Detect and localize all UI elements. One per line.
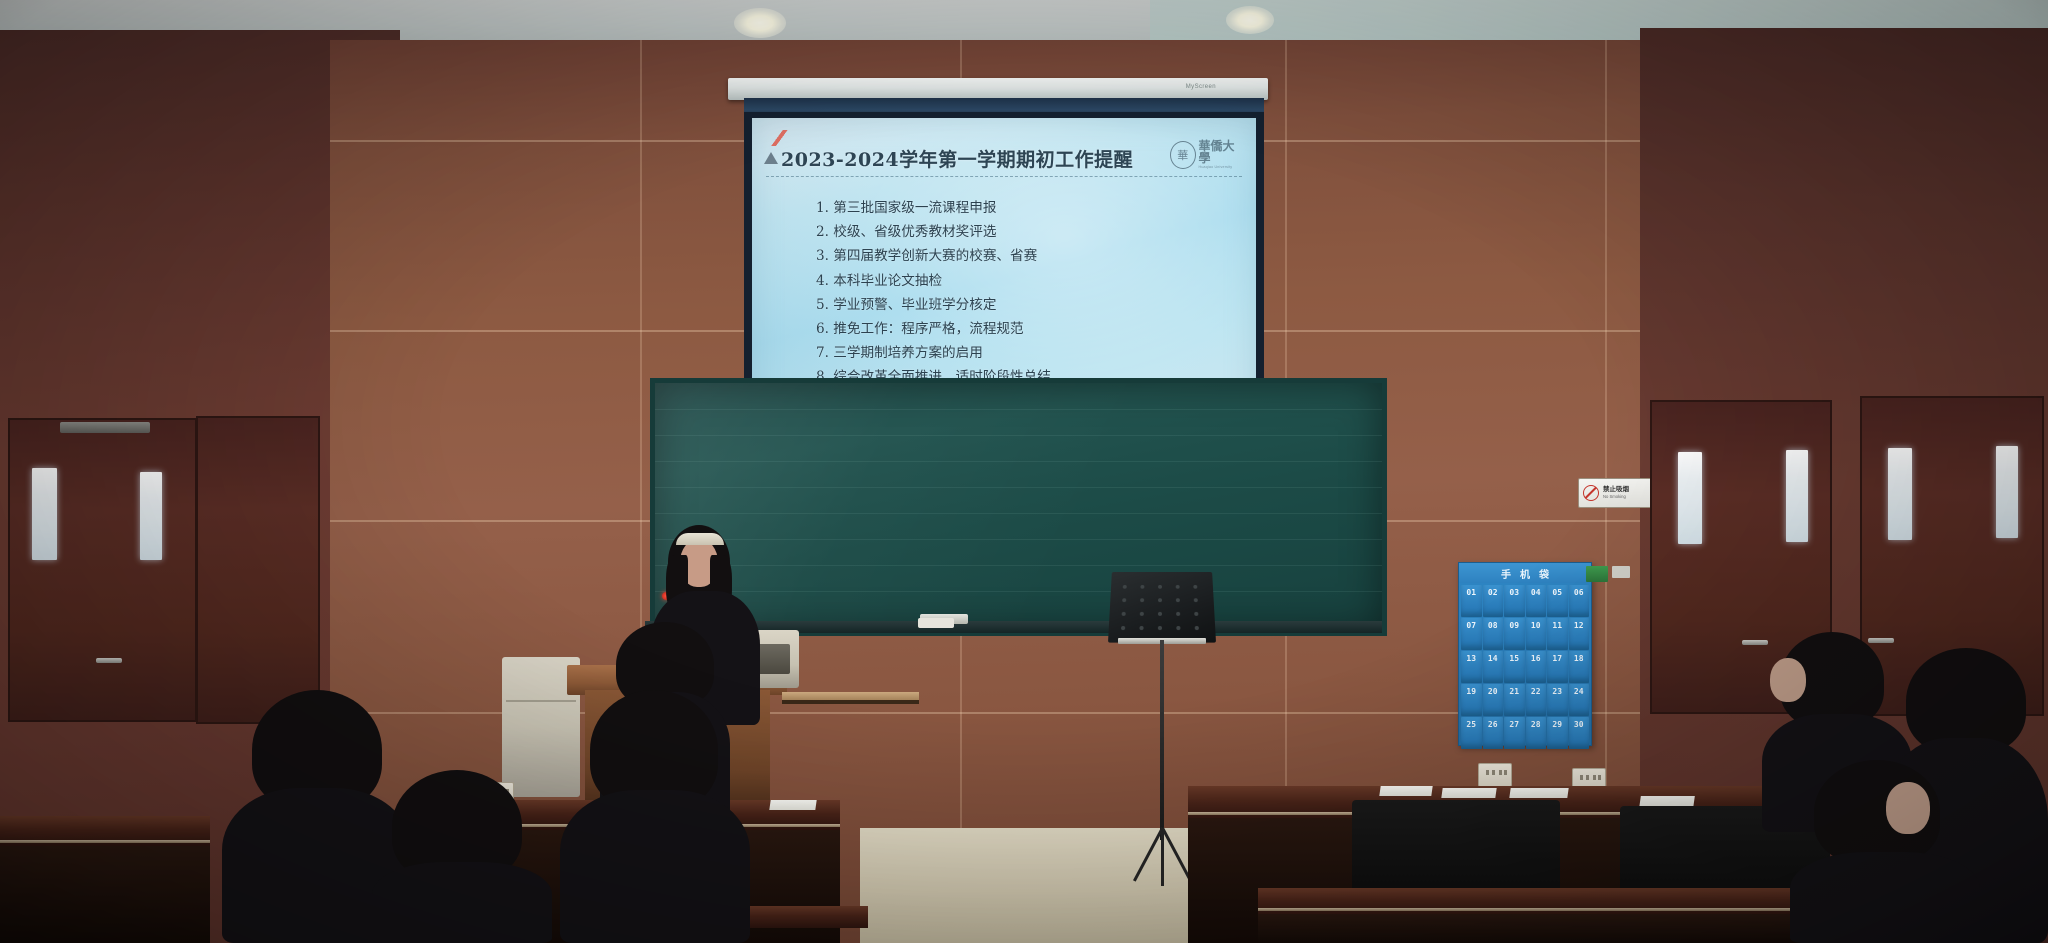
phone-pocket[interactable]: 26 — [1483, 717, 1504, 749]
door-left[interactable] — [8, 418, 197, 722]
ceiling-light-icon — [734, 8, 786, 38]
pocket-header-char: 手 — [1501, 566, 1511, 581]
desk-row — [1258, 888, 1818, 916]
no-smoking-icon — [1583, 485, 1599, 501]
triangle-bullet-icon — [764, 152, 778, 164]
phone-pocket[interactable]: 22 — [1526, 684, 1547, 716]
door-window — [1996, 446, 2018, 538]
door-window — [32, 468, 57, 560]
desk-row — [748, 906, 868, 928]
phone-pocket-chart: 手 机 袋 01 02 03 04 05 06 07 08 09 10 11 1… — [1458, 562, 1592, 746]
lecture-hall-photo: MyScreen 2023-2024学年第一学期期初工作提醒 華 華僑大學 Hu… — [0, 0, 2048, 943]
audience-member — [372, 770, 552, 943]
pocket-header-char: 机 — [1520, 566, 1530, 581]
door-window — [1786, 450, 1808, 542]
list-item: 4. 本科毕业论文抽检 — [816, 269, 1236, 293]
list-item: 7. 三学期制培养方案的启用 — [816, 341, 1236, 365]
paper-sheet[interactable] — [1509, 788, 1568, 798]
logo-name-en: Huaqiao University — [1199, 166, 1242, 170]
projector-screen-housing: MyScreen — [728, 78, 1268, 100]
phone-pocket[interactable]: 27 — [1504, 717, 1525, 749]
power-outlet[interactable] — [1478, 763, 1512, 787]
pocket-header-char: 袋 — [1539, 566, 1549, 581]
slide-title: 2023-2024学年第一学期期初工作提醒 — [781, 145, 1133, 172]
list-item: 3. 第四届教学创新大赛的校赛、省赛 — [816, 244, 1236, 268]
blackboard — [650, 378, 1387, 636]
phone-pocket[interactable]: 19 — [1461, 684, 1482, 716]
slide-divider — [766, 176, 1242, 177]
desk-front — [0, 846, 210, 943]
wall-clip — [1612, 566, 1630, 578]
phone-pocket-grid: 01 02 03 04 05 06 07 08 09 10 11 12 13 1… — [1459, 583, 1591, 751]
phone-pocket[interactable]: 12 — [1569, 618, 1590, 650]
phone-pocket[interactable]: 01 — [1461, 585, 1482, 617]
blackboard-sheen — [655, 383, 1382, 631]
list-item: 6. 推免工作：程序严格，流程规范 — [816, 317, 1236, 341]
phone-pocket[interactable]: 09 — [1504, 618, 1525, 650]
list-item: 5. 学业预警、毕业班学分核定 — [816, 293, 1236, 317]
list-item: 1. 第三批国家级一流课程申报 — [816, 196, 1236, 220]
phone-pocket[interactable]: 20 — [1483, 684, 1504, 716]
list-item: 2. 校级、省级优秀教材奖评选 — [816, 220, 1236, 244]
phone-pocket[interactable]: 24 — [1569, 684, 1590, 716]
music-stand-plate — [1108, 572, 1216, 643]
paper-sheet[interactable] — [769, 800, 816, 810]
phone-pocket[interactable]: 21 — [1504, 684, 1525, 716]
phone-pocket[interactable]: 04 — [1526, 585, 1547, 617]
phone-pocket[interactable]: 25 — [1461, 717, 1482, 749]
wall-green-tag — [1586, 566, 1608, 582]
door-window — [1678, 452, 1702, 544]
podium-shelf-shadow — [782, 700, 919, 704]
university-logo: 華 華僑大學 Huaqiao University — [1170, 140, 1242, 170]
ceiling-light-icon — [1226, 6, 1274, 34]
tripod-leg — [1161, 828, 1164, 886]
phone-pocket[interactable]: 18 — [1569, 651, 1590, 683]
chalk-box[interactable] — [918, 618, 954, 628]
door-closer — [60, 422, 150, 433]
logo-name-cn: 華僑大學 — [1199, 140, 1242, 164]
no-smoking-text-cn: 禁止吸烟 — [1603, 487, 1629, 494]
paper-sheet[interactable] — [1441, 788, 1496, 798]
screen-brand-label: MyScreen — [1186, 84, 1216, 90]
no-smoking-text-en: No Smoking — [1603, 495, 1629, 499]
door-handle[interactable] — [96, 658, 122, 663]
phone-pocket[interactable]: 15 — [1504, 651, 1525, 683]
door-window — [1888, 448, 1912, 540]
phone-pocket[interactable]: 02 — [1483, 585, 1504, 617]
phone-pocket[interactable]: 17 — [1547, 651, 1568, 683]
phone-pocket[interactable]: 11 — [1547, 618, 1568, 650]
phone-pocket[interactable]: 13 — [1461, 651, 1482, 683]
phone-pocket[interactable]: 10 — [1526, 618, 1547, 650]
desk-edge — [0, 840, 210, 843]
phone-pocket[interactable]: 29 — [1547, 717, 1568, 749]
audience-member — [560, 690, 750, 943]
phone-pocket[interactable]: 05 — [1547, 585, 1568, 617]
door-left-outer[interactable] — [196, 416, 320, 724]
phone-pocket[interactable]: 03 — [1504, 585, 1525, 617]
desk-front — [1258, 914, 1818, 943]
phone-pocket[interactable]: 28 — [1526, 717, 1547, 749]
phone-pocket[interactable]: 16 — [1526, 651, 1547, 683]
phone-pocket[interactable]: 08 — [1483, 618, 1504, 650]
tripod-pole — [1160, 640, 1164, 840]
logo-seal-icon: 華 — [1170, 141, 1196, 169]
phone-pocket[interactable]: 07 — [1461, 618, 1482, 650]
phone-pocket[interactable]: 30 — [1569, 717, 1590, 749]
paper-sheet[interactable] — [1379, 786, 1432, 796]
audience-member — [1790, 760, 1980, 943]
phone-pocket[interactable]: 14 — [1483, 651, 1504, 683]
phone-pocket[interactable]: 06 — [1569, 585, 1590, 617]
phone-pocket[interactable]: 23 — [1547, 684, 1568, 716]
door-window — [140, 472, 162, 560]
phone-pocket-chart-header: 手 机 袋 — [1459, 563, 1591, 583]
no-smoking-sign: 禁止吸烟 No Smoking — [1578, 478, 1656, 508]
desk-edge — [1258, 908, 1818, 911]
